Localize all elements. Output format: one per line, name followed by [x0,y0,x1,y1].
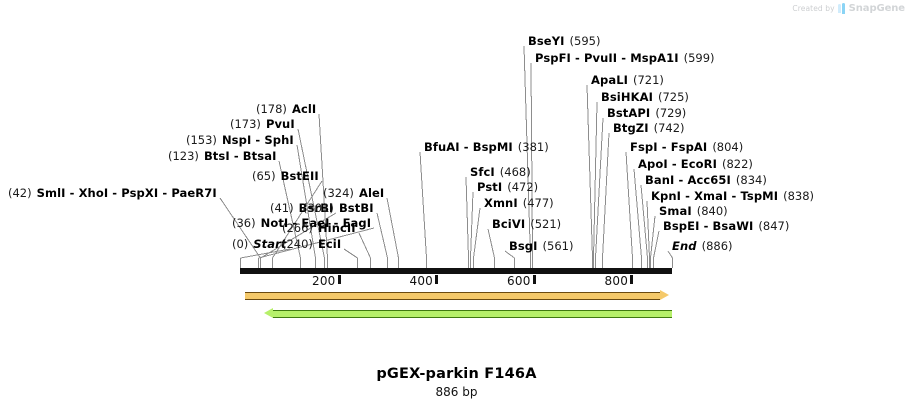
ruler-tick [435,275,438,284]
label-leader-line [387,198,399,258]
label-leader-line [626,152,633,258]
feature-arrow-head-icon [660,290,669,300]
enzyme-position-text: (42) [8,186,32,200]
feature-arrow-body [273,310,672,318]
enzyme-name-text: BseYI [528,34,565,48]
ruler-tick-label: 600 [507,274,533,288]
enzyme-label[interactable]: (178)AclI [256,103,316,115]
enzyme-label[interactable]: (0)Start [232,238,287,250]
enzyme-position-text: (65) [252,169,276,183]
enzyme-label[interactable]: ApoI - EcoRI(822) [638,158,753,170]
enzyme-name-text: BsgI [509,239,538,253]
enzyme-name-text: PspFI - PvuII - MspA1I [535,51,679,65]
enzyme-label[interactable]: BciVI(521) [492,218,561,230]
enzyme-name-text: BstBI [339,201,374,215]
enzyme-name-text: XmnI [484,196,518,210]
enzyme-position-text: (847) [758,219,789,233]
label-leader-line [587,85,593,258]
enzyme-label[interactable]: XmnI(477) [484,197,554,209]
enzyme-label[interactable]: (301)BstBI [303,202,374,214]
enzyme-label[interactable]: (153)NspI - SphI [186,134,294,146]
label-leader-line [654,231,660,258]
enzyme-label[interactable]: BspEI - BsaWI(847) [663,220,789,232]
label-leader-line [377,213,388,258]
label-leader-line [634,169,642,258]
enzyme-position-text: (840) [697,204,728,218]
enzyme-name-text: NspI - SphI [222,133,294,147]
enzyme-label[interactable]: (324)AleI [323,187,384,199]
label-leader-line [471,192,474,258]
enzyme-position-text: (729) [655,106,686,120]
enzyme-name-text: BsiHKAI [601,90,653,104]
enzyme-name-text: BstAPI [607,106,650,120]
enzyme-label[interactable]: BanI - Acc65I(834) [645,174,767,186]
label-leader-line [641,185,648,258]
enzyme-position-text: (173) [230,117,261,131]
enzyme-position-text: (886) [702,239,733,253]
label-leader-line [651,216,656,258]
ruler-tick [533,275,536,284]
enzyme-label[interactable]: PstI(472) [477,181,538,193]
enzyme-position-text: (381) [518,140,549,154]
enzyme-name-text: AleI [359,186,384,200]
enzyme-label[interactable]: (240)EciI [282,238,341,250]
ruler-tick-label: 800 [605,274,631,288]
enzyme-position-text: (822) [722,157,753,171]
watermark-brand-text: SnapGene [849,3,905,14]
ruler-tick [338,275,341,284]
enzyme-position-text: (36) [232,216,256,230]
enzyme-position-text: (721) [633,73,664,87]
snapgene-linear-map: Created by SnapGene (0)Start(36)NotI - E… [0,0,913,408]
enzyme-label[interactable]: End(886) [672,240,733,252]
enzyme-position-text: (123) [168,149,199,163]
watermark-created-by-text: Created by [792,4,834,13]
enzyme-label[interactable]: BseYI(595) [528,35,600,47]
ruler-tick [630,275,633,284]
enzyme-position-text: (0) [232,237,248,251]
enzyme-label[interactable]: BsgI(561) [509,240,573,252]
enzyme-label[interactable]: BtgZI(742) [613,122,685,134]
enzyme-label[interactable]: (65)BstEII [252,170,319,182]
enzyme-position-text: (561) [543,239,574,253]
snapgene-logo-icon [838,3,846,14]
enzyme-name-text: HincII [318,221,356,235]
enzyme-label[interactable]: SmaI(840) [659,205,728,217]
enzyme-label[interactable]: PspFI - PvuII - MspA1I(599) [535,52,715,64]
enzyme-position-text: (468) [500,165,531,179]
title-block: pGEX-parkin F146A 886 bp [0,366,913,399]
enzyme-label[interactable]: FspI - FspAI(804) [630,141,743,153]
label-leader-line [647,201,650,258]
enzyme-label[interactable]: SfcI(468) [470,166,531,178]
label-leader-line [603,133,610,258]
enzyme-name-text: BspEI - BsaWI [663,219,753,233]
label-leader-line [359,233,371,258]
enzyme-name-text: PvuI [266,117,295,131]
enzyme-position-text: (41) [270,201,294,215]
enzyme-label[interactable]: BfuAI - BspMI(381) [424,141,549,153]
enzyme-name-text: ApaLI [591,73,628,87]
feature-arrow-head-icon [264,308,273,318]
enzyme-label[interactable]: (173)PvuI [230,118,295,130]
enzyme-position-text: (521) [530,217,561,231]
enzyme-name-text: SmlI - XhoI - PspXI - PaeR7I [37,186,217,200]
enzyme-label[interactable]: (42)SmlI - XhoI - PspXI - PaeR7I [8,187,217,199]
snapgene-watermark: Created by SnapGene [792,3,905,14]
enzyme-position-text: (472) [507,180,538,194]
label-leader-line [344,249,358,258]
enzyme-name-text: SmaI [659,204,692,218]
enzyme-position-text: (804) [712,140,743,154]
enzyme-name-text: BtsI - BtsaI [204,149,277,163]
enzyme-label[interactable]: BsiHKAI(725) [601,91,689,103]
label-leader-line [420,152,427,258]
enzyme-label[interactable]: (123)BtsI - BtsaI [168,150,276,162]
enzyme-name-text: ApoI - EcoRI [638,157,717,171]
label-leader-line [474,208,481,258]
ruler-tick-label: 200 [312,274,338,288]
enzyme-position-text: (324) [323,186,354,200]
label-leader-line [594,102,598,258]
enzyme-name-text: PstI [477,180,502,194]
leader-lines [0,0,913,408]
enzyme-position-text: (834) [736,173,767,187]
enzyme-position-text: (742) [654,121,685,135]
enzyme-position-text: (725) [658,90,689,104]
enzyme-name-text: AclI [292,102,316,116]
enzyme-position-text: (477) [523,196,554,210]
label-leader-line [466,177,469,258]
enzyme-name-text: BfuAI - BspMI [424,140,513,154]
enzyme-name-text: BtgZI [613,121,649,135]
enzyme-position-text: (240) [282,237,313,251]
plasmid-name: pGEX-parkin F146A [0,366,913,382]
plasmid-size: 886 bp [0,385,913,399]
label-leader-line [596,118,604,258]
enzyme-name-text: KpnI - XmaI - TspMI [651,189,778,203]
enzyme-name-text: BciVI [492,217,525,231]
enzyme-position-text: (301) [303,201,334,215]
enzyme-name-text: BanI - Acc65I [645,173,731,187]
feature-arrow-reverse-feature[interactable] [264,308,672,318]
enzyme-name-text: EciI [318,237,341,251]
enzyme-position-text: (599) [684,51,715,65]
enzyme-position-text: (595) [570,34,601,48]
enzyme-position-text: (838) [783,189,814,203]
enzyme-position-text: (153) [186,133,217,147]
enzyme-position-text: (266) [282,221,313,235]
enzyme-label[interactable]: KpnI - XmaI - TspMI(838) [651,190,814,202]
enzyme-label[interactable]: BstAPI(729) [607,107,686,119]
enzyme-name-text: End [672,239,697,253]
enzyme-name-text: SfcI [470,165,495,179]
enzyme-name-text: BstEII [281,169,319,183]
feature-arrow-forward-feature[interactable] [245,290,669,300]
enzyme-label[interactable]: ApaLI(721) [591,74,664,86]
enzyme-position-text: (178) [256,102,287,116]
label-leader-line [488,229,495,258]
ruler-tick-label: 400 [410,274,436,288]
enzyme-name-text: FspI - FspAI [630,140,707,154]
feature-arrow-body [245,292,660,300]
enzyme-label[interactable]: (266)HincII [282,222,356,234]
